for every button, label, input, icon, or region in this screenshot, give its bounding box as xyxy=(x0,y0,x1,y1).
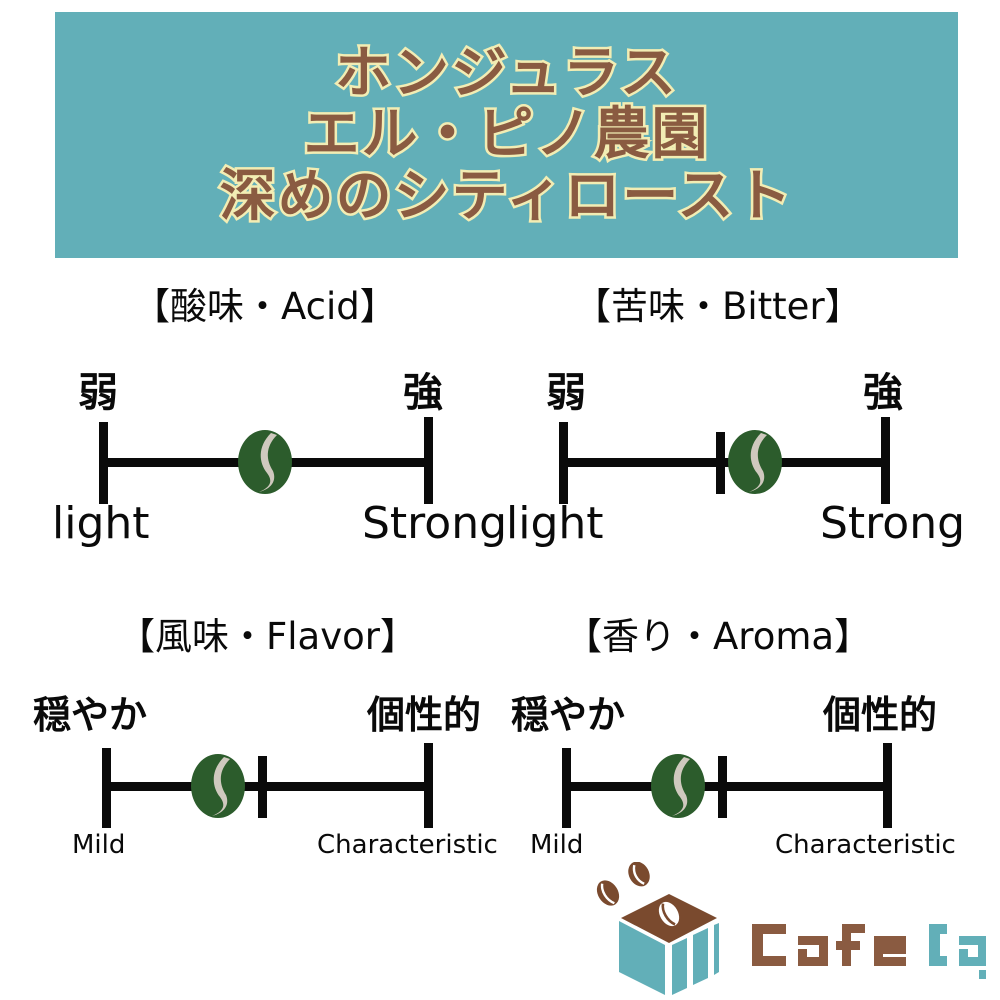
scale-flavor-track xyxy=(106,782,432,791)
scale-acid-right-jp-label: 強 xyxy=(403,360,443,418)
brand-wordmark-cajon xyxy=(929,924,947,966)
scale-flavor-left-en-label: Mild xyxy=(72,830,125,860)
scale-bitter-tick-left xyxy=(559,422,568,504)
scale-aroma-tick-middle xyxy=(718,756,727,818)
product-title-band: ホンジュラス エル・ピノ農園 深めのシティロースト xyxy=(55,12,958,258)
scale-flavor-tick-right xyxy=(424,743,433,828)
scale-bitter-track xyxy=(563,458,889,467)
cajon-box-right-panel-1 xyxy=(672,938,687,995)
scale-acid-left-jp-label: 弱 xyxy=(78,360,118,418)
floating-bean-icon-1 xyxy=(624,862,654,890)
product-title-line-1: ホンジュラス xyxy=(335,43,678,105)
scale-bitter-tick-middle xyxy=(716,432,725,494)
scale-flavor-left-jp-label: 穏やか xyxy=(33,684,147,739)
scale-flavor: 穏やか 個性的 Mild Characteristic xyxy=(0,684,540,864)
brand-wordmark-cafe xyxy=(752,924,906,966)
scale-acid: 弱 強 light Strong xyxy=(0,360,500,560)
scale-flavor-bean-marker[interactable] xyxy=(190,753,246,819)
section-caption-bitter: 【苦味・Bitter】 xyxy=(574,276,862,330)
floating-bean-icon-2 xyxy=(592,876,623,909)
section-caption-aroma: 【香り・Aroma】 xyxy=(565,606,871,660)
flavor-profile-infographic: ホンジュラス エル・ピノ農園 深めのシティロースト 【酸味・Acid】 【苦味・… xyxy=(0,0,1000,1000)
section-caption-acid: 【酸味・Acid】 xyxy=(133,276,397,330)
scale-acid-left-en-label: light xyxy=(52,498,150,549)
brand-logo[interactable] xyxy=(546,862,986,998)
scale-bitter-bean-marker[interactable] xyxy=(727,429,783,495)
scale-aroma-bean-marker[interactable] xyxy=(650,753,706,819)
brand-wordmark-cajon-rest xyxy=(959,936,986,966)
cajon-box-right-panel-2 xyxy=(693,928,708,985)
section-caption-flavor: 【風味・Flavor】 xyxy=(118,606,417,660)
scale-aroma: 穏やか 個性的 Mild Characteristic xyxy=(460,684,1000,864)
scale-bitter-tick-right xyxy=(881,417,890,504)
scale-acid-tick-right xyxy=(424,417,433,504)
scale-bitter-left-en-label: light xyxy=(506,498,604,549)
scale-bitter: 弱 強 light Strong xyxy=(460,360,1000,560)
scale-flavor-tick-middle xyxy=(258,756,267,818)
scale-aroma-right-jp-label: 個性的 xyxy=(823,684,937,739)
scale-aroma-track xyxy=(566,782,891,791)
scale-bitter-right-jp-label: 強 xyxy=(863,360,903,418)
scale-aroma-right-en-label: Characteristic xyxy=(775,830,956,860)
scale-acid-tick-left xyxy=(99,422,108,504)
scale-aroma-left-jp-label: 穏やか xyxy=(511,684,625,739)
scale-bitter-right-en-label: Strong xyxy=(820,498,965,549)
product-title-line-2: エル・ピノ農園 xyxy=(304,104,710,166)
scale-flavor-tick-left xyxy=(102,748,111,828)
scale-aroma-tick-right xyxy=(883,743,892,828)
scale-aroma-left-en-label: Mild xyxy=(530,830,583,860)
product-title-line-3: 深めのシティロースト xyxy=(220,166,794,228)
scale-bitter-left-jp-label: 弱 xyxy=(546,360,586,418)
scale-aroma-tick-left xyxy=(562,748,571,828)
cajon-box-right-panel-3 xyxy=(714,923,719,975)
scale-acid-bean-marker[interactable] xyxy=(237,429,293,495)
